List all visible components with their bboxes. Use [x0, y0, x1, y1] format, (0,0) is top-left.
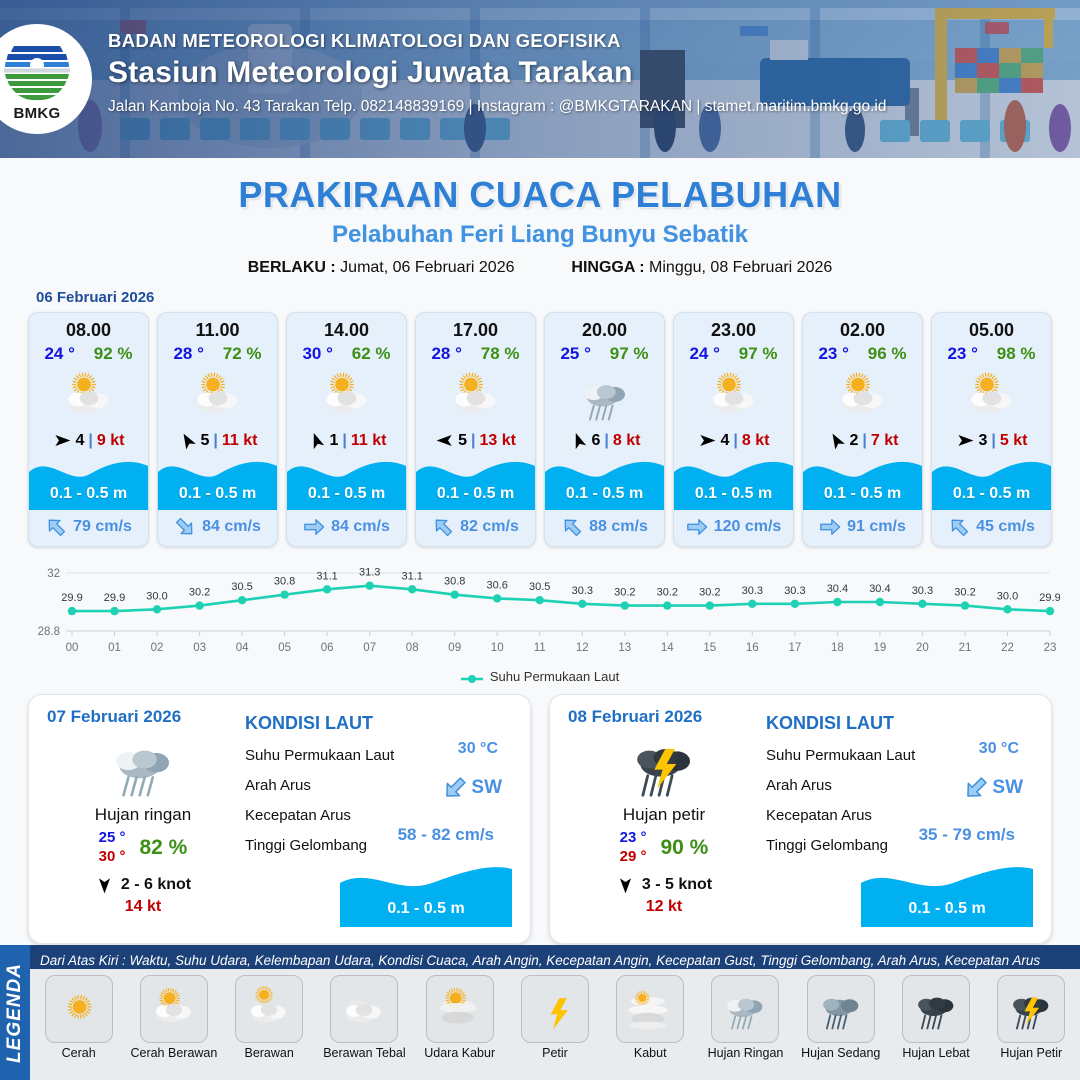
legend-item: Hujan Lebat: [891, 975, 980, 1060]
current-speed: 84 cm/s: [331, 518, 390, 536]
legend-icon-box: [426, 975, 494, 1043]
wave-height-block: 0.1 - 0.5 m: [158, 456, 277, 510]
wind-separator: |: [213, 432, 217, 450]
legend-item-label: Petir: [510, 1046, 599, 1060]
svg-text:22: 22: [1001, 642, 1014, 654]
air-temperature: 30 °: [302, 344, 332, 364]
wave-height-block: 0.1 - 0.5 m: [932, 456, 1051, 510]
valid-to-label: HINGGA :: [571, 259, 644, 276]
wave-height-value: 0.1 - 0.5 m: [803, 485, 922, 503]
forecast-temp-humidity: 23 ° 98 %: [932, 343, 1051, 366]
wave-height-block: 0.1 - 0.5 m: [545, 456, 664, 510]
summary-wind-range: 2 - 6 knot: [121, 876, 191, 894]
summary-temp-min: 23 °: [620, 829, 647, 846]
weather-icon-petir: [529, 983, 581, 1035]
wind-separator: |: [991, 432, 995, 450]
current-direction-arrow: [442, 775, 468, 801]
weather-icon-cerah-berawan: [59, 367, 119, 427]
valid-from-value: Jumat, 06 Februari 2026: [340, 259, 514, 276]
current-speed: 88 cm/s: [589, 518, 648, 536]
svg-text:01: 01: [108, 642, 121, 654]
svg-text:30.5: 30.5: [529, 581, 550, 593]
forecast-time: 05.00: [932, 313, 1051, 343]
weather-condition-icon: [803, 366, 922, 428]
wind-speed: 13 kt: [479, 432, 515, 450]
wind-direction-arrow: [569, 431, 588, 450]
air-temperature: 28 °: [431, 344, 461, 364]
svg-text:29.9: 29.9: [1039, 592, 1060, 604]
weather-icon-hujan-petir: [625, 727, 703, 805]
current-direction-arrow: [948, 516, 970, 538]
summary-temp-humidity: 25 ° 30 ° 82 %: [45, 829, 241, 867]
sst-chart: 3228.829.90029.90130.00230.20330.50430.8…: [20, 559, 1060, 667]
forecast-card: 23.00 24 ° 97 % 4 | 8 kt 0.1 - 0.5 m 120…: [673, 312, 794, 547]
legend-icon-box: [711, 975, 779, 1043]
air-temperature: 28 °: [173, 344, 203, 364]
humidity: 72 %: [223, 344, 262, 364]
wind-speed: 9 kt: [97, 432, 125, 450]
wind-direction-value: 5: [458, 432, 467, 450]
humidity: 97 %: [610, 344, 649, 364]
current-info: 88 cm/s: [545, 510, 664, 546]
wind-speed: 11 kt: [222, 432, 258, 450]
forecast-time: 02.00: [803, 313, 922, 343]
forecast-time: 23.00: [674, 313, 793, 343]
summary-humidity: 82 %: [139, 836, 187, 860]
sea-value-current-speed: 58 - 82 cm/s: [398, 825, 494, 845]
wave-height-value: 0.1 - 0.5 m: [287, 485, 406, 503]
svg-text:30.2: 30.2: [657, 587, 678, 599]
svg-text:30.2: 30.2: [614, 587, 635, 599]
wind-separator: |: [733, 432, 737, 450]
wind-direction-arrow: [956, 431, 975, 450]
wind-info: 5 | 13 kt: [416, 428, 535, 456]
weather-icon-cerah-berawan: [188, 367, 248, 427]
svg-text:16: 16: [746, 642, 759, 654]
svg-text:12: 12: [576, 642, 589, 654]
sea-value-wave: 0.1 - 0.5 m: [340, 900, 512, 918]
weather-icon-hujan-ringan: [104, 727, 182, 805]
current-speed: 82 cm/s: [460, 518, 519, 536]
svg-text:29.9: 29.9: [104, 592, 125, 604]
current-info: 84 cm/s: [158, 510, 277, 546]
contact-info: Jalan Kamboja No. 43 Tarakan Telp. 08214…: [108, 98, 887, 116]
weather-icon-udara-kabur: [434, 983, 486, 1035]
svg-text:20: 20: [916, 642, 929, 654]
forecast-card: 14.00 30 ° 62 % 1 | 11 kt 0.1 - 0.5 m 84…: [286, 312, 407, 547]
svg-text:31.1: 31.1: [316, 570, 337, 582]
weather-icon-hujan-lebat: [910, 983, 962, 1035]
day-summaries-row: 07 Februari 2026 Hujan ringan 25 ° 30 ° …: [0, 684, 1080, 944]
svg-text:14: 14: [661, 642, 674, 654]
air-temperature: 23 °: [947, 344, 977, 364]
humidity: 96 %: [868, 344, 907, 364]
summary-left: 08 Februari 2026 Hujan petir 23 ° 29 ° 9…: [566, 707, 762, 929]
forecast-time: 14.00: [287, 313, 406, 343]
wave-height-block: 0.1 - 0.5 m: [674, 456, 793, 510]
legend-item-label: Cerah Berawan: [129, 1046, 218, 1060]
wave-height-block: 0.1 - 0.5 m: [803, 456, 922, 510]
legend-icon-box: [616, 975, 684, 1043]
summary-temp-range: 25 ° 30 °: [99, 829, 126, 867]
wind-info: 3 | 5 kt: [932, 428, 1051, 456]
current-direction-arrow: [174, 516, 196, 538]
summary-gust: 14 kt: [45, 898, 241, 916]
weather-condition-icon: [158, 366, 277, 428]
humidity: 62 %: [352, 344, 391, 364]
summary-temp-min: 25 °: [99, 829, 126, 846]
current-speed: 91 cm/s: [847, 518, 906, 536]
wind-direction-value: 3: [979, 432, 988, 450]
humidity: 97 %: [739, 344, 778, 364]
legend-item-label: Hujan Ringan: [701, 1046, 790, 1060]
wind-separator: |: [88, 432, 92, 450]
sea-value-sst: 30 °C: [458, 740, 498, 758]
svg-text:13: 13: [618, 642, 631, 654]
current-speed: 120 cm/s: [714, 518, 782, 536]
air-temperature: 23 °: [818, 344, 848, 364]
weather-icon-cerah: [53, 983, 105, 1035]
wind-info: 1 | 11 kt: [287, 428, 406, 456]
wind-speed: 8 kt: [613, 432, 641, 450]
wind-direction-arrow: [53, 431, 72, 450]
svg-text:08: 08: [406, 642, 419, 654]
wind-info: 4 | 9 kt: [29, 428, 148, 456]
svg-text:18: 18: [831, 642, 844, 654]
current-info: 120 cm/s: [674, 510, 793, 546]
legend-icon-box: [140, 975, 208, 1043]
current-direction-arrow: [963, 775, 989, 801]
svg-text:30.2: 30.2: [189, 587, 210, 599]
weather-icon-hujan-petir: [1005, 983, 1057, 1035]
legend-item: Berawan: [225, 975, 314, 1060]
day-summary-card: 07 Februari 2026 Hujan ringan 25 ° 30 ° …: [28, 694, 531, 944]
weather-condition-icon: [674, 366, 793, 428]
forecast-card: 11.00 28 ° 72 % 5 | 11 kt 0.1 - 0.5 m 84…: [157, 312, 278, 547]
air-temperature: 25 °: [560, 344, 590, 364]
forecast-temp-humidity: 24 ° 92 %: [29, 343, 148, 366]
weather-icon-cerah-berawan: [446, 367, 506, 427]
sea-wave-block: 0.1 - 0.5 m: [340, 861, 512, 927]
wave-height-value: 0.1 - 0.5 m: [29, 485, 148, 503]
summary-temp-humidity: 23 ° 29 ° 90 %: [566, 829, 762, 867]
weather-icon-kabut: [624, 983, 676, 1035]
legend-side-title-text: LEGENDA: [4, 963, 26, 1063]
wind-direction-arrow: [178, 431, 197, 450]
validity-period: BERLAKU : Jumat, 06 Februari 2026 HINGGA…: [0, 259, 1080, 277]
wind-direction-arrow: [95, 876, 114, 895]
summary-wind: 2 - 6 knot: [45, 876, 241, 895]
legend-icon-box: [235, 975, 303, 1043]
legend-icon-box: [521, 975, 589, 1043]
wind-info: 2 | 7 kt: [803, 428, 922, 456]
svg-text:28.8: 28.8: [38, 626, 60, 638]
svg-text:23: 23: [1044, 642, 1057, 654]
page-subtitle: Pelabuhan Feri Liang Bunyu Sebatik: [0, 221, 1080, 249]
sea-item-current-speed: Kecepatan Arus: [766, 807, 1035, 824]
svg-text:11: 11: [534, 642, 546, 654]
legend-item: Hujan Petir: [987, 975, 1076, 1060]
humidity: 78 %: [481, 344, 520, 364]
valid-to-value: Minggu, 08 Februari 2026: [649, 259, 832, 276]
forecast-time: 08.00: [29, 313, 148, 343]
svg-text:05: 05: [278, 642, 291, 654]
wind-direction-arrow: [435, 431, 454, 450]
forecast-time: 11.00: [158, 313, 277, 343]
wind-separator: |: [471, 432, 475, 450]
wind-direction-value: 5: [201, 432, 210, 450]
weather-condition-icon: [416, 366, 535, 428]
svg-text:32: 32: [47, 568, 60, 580]
weather-condition-icon: [545, 366, 664, 428]
wind-speed: 5 kt: [1000, 432, 1028, 450]
forecast-card: 08.00 24 ° 92 % 4 | 9 kt 0.1 - 0.5 m 79 …: [28, 312, 149, 547]
legend-icon-box: [997, 975, 1065, 1043]
legend-item: Berawan Tebal: [320, 975, 409, 1060]
humidity: 92 %: [94, 344, 133, 364]
forecast-time: 17.00: [416, 313, 535, 343]
current-direction-label: SW: [992, 777, 1023, 799]
agency-name: BADAN METEOROLOGI KLIMATOLOGI DAN GEOFIS…: [108, 30, 887, 52]
wind-direction-value: 4: [76, 432, 85, 450]
legend-item-label: Cerah: [34, 1046, 123, 1060]
summary-date: 08 Februari 2026: [568, 707, 762, 727]
title-section: PRAKIRAAN CUACA PELABUHAN Pelabuhan Feri…: [0, 158, 1080, 277]
legend-icon-box: [45, 975, 113, 1043]
legend-icon-box: [330, 975, 398, 1043]
wind-separator: |: [342, 432, 346, 450]
current-direction-arrow: [561, 516, 583, 538]
svg-text:30.0: 30.0: [997, 590, 1018, 602]
forecast-temp-humidity: 24 ° 97 %: [674, 343, 793, 366]
legend-item: Hujan Ringan: [701, 975, 790, 1060]
svg-text:06: 06: [321, 642, 334, 654]
sea-conditions-header: KONDISI LAUT: [766, 713, 1035, 734]
current-direction-label: SW: [471, 777, 502, 799]
page-title: PRAKIRAAN CUACA PELABUHAN: [0, 174, 1080, 216]
current-info: 91 cm/s: [803, 510, 922, 546]
chart-legend-marker: [461, 672, 483, 682]
svg-text:31.1: 31.1: [401, 570, 422, 582]
summary-temp-max: 29 °: [620, 848, 647, 865]
current-info: 84 cm/s: [287, 510, 406, 546]
current-direction-arrow: [819, 516, 841, 538]
svg-text:02: 02: [151, 642, 164, 654]
current-direction-arrow: [45, 516, 67, 538]
legend-item: Hujan Sedang: [796, 975, 885, 1060]
bmkg-logo-text: BMKG: [0, 105, 74, 122]
svg-text:30.6: 30.6: [486, 579, 507, 591]
summary-wind-range: 3 - 5 knot: [642, 876, 712, 894]
weather-condition-icon: [287, 366, 406, 428]
sea-value-current-speed: 35 - 79 cm/s: [919, 825, 1015, 845]
svg-text:17: 17: [789, 642, 802, 654]
weather-icon-cerah-berawan: [833, 367, 893, 427]
wind-info: 5 | 11 kt: [158, 428, 277, 456]
svg-text:21: 21: [959, 642, 972, 654]
sea-item-current-speed: Kecepatan Arus: [245, 807, 514, 824]
forecast-card: 02.00 23 ° 96 % 2 | 7 kt 0.1 - 0.5 m 91 …: [802, 312, 923, 547]
wind-info: 4 | 8 kt: [674, 428, 793, 456]
svg-text:30.2: 30.2: [954, 587, 975, 599]
wind-direction-value: 6: [592, 432, 601, 450]
weather-condition-icon: [932, 366, 1051, 428]
summary-humidity: 90 %: [660, 836, 708, 860]
bmkg-logo-icon: [0, 38, 74, 104]
sea-value-sst: 30 °C: [979, 740, 1019, 758]
air-temperature: 24 °: [44, 344, 74, 364]
wind-separator: |: [604, 432, 608, 450]
wave-height-value: 0.1 - 0.5 m: [545, 485, 664, 503]
svg-text:30.3: 30.3: [572, 585, 593, 597]
weather-icon-cerah-berawan: [962, 367, 1022, 427]
weather-icon-cerah-berawan: [704, 367, 764, 427]
forecast-temp-humidity: 23 ° 96 %: [803, 343, 922, 366]
current-direction-arrow: [432, 516, 454, 538]
wind-info: 6 | 8 kt: [545, 428, 664, 456]
legend-item-label: Berawan Tebal: [320, 1046, 409, 1060]
summary-sea-conditions: KONDISI LAUT Suhu Permukaan Laut Arah Ar…: [762, 707, 1035, 929]
legend-item-label: Hujan Petir: [987, 1046, 1076, 1060]
svg-text:30.2: 30.2: [699, 587, 720, 599]
wind-direction-arrow: [698, 431, 717, 450]
summary-gust: 12 kt: [566, 898, 762, 916]
current-info: 45 cm/s: [932, 510, 1051, 546]
svg-text:15: 15: [703, 642, 716, 654]
legend-item: Petir: [510, 975, 599, 1060]
current-info: 82 cm/s: [416, 510, 535, 546]
legend-item-label: Udara Kabur: [415, 1046, 504, 1060]
station-name: Stasiun Meteorologi Juwata Tarakan: [108, 56, 887, 90]
legend-item-label: Hujan Lebat: [891, 1046, 980, 1060]
legend-item: Cerah Berawan: [129, 975, 218, 1060]
current-speed: 79 cm/s: [73, 518, 132, 536]
weather-icon-hujan-sedang: [815, 983, 867, 1035]
summary-weather-icon: [566, 729, 762, 803]
svg-text:19: 19: [874, 642, 887, 654]
summary-date: 07 Februari 2026: [47, 707, 241, 727]
wind-direction-arrow: [307, 431, 326, 450]
svg-text:30.8: 30.8: [444, 576, 465, 588]
sst-chart-svg: 3228.829.90029.90130.00230.20330.50430.8…: [20, 559, 1060, 667]
weather-condition-icon: [29, 366, 148, 428]
wave-height-block: 0.1 - 0.5 m: [287, 456, 406, 510]
svg-text:10: 10: [491, 642, 504, 654]
wave-height-value: 0.1 - 0.5 m: [932, 485, 1051, 503]
forecast-temp-humidity: 28 ° 78 %: [416, 343, 535, 366]
svg-text:30.0: 30.0: [146, 590, 167, 602]
wind-direction-value: 1: [330, 432, 339, 450]
legend-item: Udara Kabur: [415, 975, 504, 1060]
wind-speed: 8 kt: [742, 432, 770, 450]
air-temperature: 24 °: [689, 344, 719, 364]
wind-speed: 7 kt: [871, 432, 899, 450]
svg-text:30.3: 30.3: [742, 585, 763, 597]
summary-temp-max: 30 °: [99, 848, 126, 865]
weather-icon-berawan-tebal: [338, 983, 390, 1035]
svg-text:29.9: 29.9: [61, 592, 82, 604]
forecast-card: 20.00 25 ° 97 % 6 | 8 kt 0.1 - 0.5 m 88 …: [544, 312, 665, 547]
sea-wave-block: 0.1 - 0.5 m: [861, 861, 1033, 927]
current-speed: 84 cm/s: [202, 518, 261, 536]
forecast-temp-humidity: 25 ° 97 %: [545, 343, 664, 366]
svg-text:30.3: 30.3: [912, 585, 933, 597]
forecast-card: 17.00 28 ° 78 % 5 | 13 kt 0.1 - 0.5 m 82…: [415, 312, 536, 547]
wind-direction-arrow: [616, 876, 635, 895]
legend-item-label: Kabut: [606, 1046, 695, 1060]
humidity: 98 %: [997, 344, 1036, 364]
chart-legend: Suhu Permukaan Laut: [0, 669, 1080, 684]
forecast-card: 05.00 23 ° 98 % 3 | 5 kt 0.1 - 0.5 m 45 …: [931, 312, 1052, 547]
summary-condition: Hujan ringan: [45, 805, 241, 825]
summary-left: 07 Februari 2026 Hujan ringan 25 ° 30 ° …: [45, 707, 241, 929]
wave-height-value: 0.1 - 0.5 m: [674, 485, 793, 503]
current-info: 79 cm/s: [29, 510, 148, 546]
svg-text:30.4: 30.4: [827, 583, 848, 595]
legend-bar: LEGENDA Dari Atas Kiri : Waktu, Suhu Uda…: [0, 945, 1080, 1080]
wind-direction-value: 2: [850, 432, 859, 450]
summary-wind: 3 - 5 knot: [566, 876, 762, 895]
wave-height-block: 0.1 - 0.5 m: [416, 456, 535, 510]
svg-text:30.8: 30.8: [274, 576, 295, 588]
weather-icon-cerah-berawan: [317, 367, 377, 427]
wave-height-value: 0.1 - 0.5 m: [416, 485, 535, 503]
legend-item-label: Berawan: [225, 1046, 314, 1060]
forecast-time: 20.00: [545, 313, 664, 343]
summary-weather-icon: [45, 729, 241, 803]
weather-icon-berawan: [243, 983, 295, 1035]
svg-text:04: 04: [236, 642, 249, 654]
svg-text:07: 07: [363, 642, 376, 654]
page-header: BMKG BADAN METEOROLOGI KLIMATOLOGI DAN G…: [0, 0, 1080, 158]
svg-text:00: 00: [66, 642, 79, 654]
current-direction-arrow: [303, 516, 325, 538]
forecast-day-label: 06 Februari 2026: [36, 289, 1080, 306]
current-direction-arrow: [686, 516, 708, 538]
sea-conditions-header: KONDISI LAUT: [245, 713, 514, 734]
summary-condition: Hujan petir: [566, 805, 762, 825]
wave-height-value: 0.1 - 0.5 m: [158, 485, 277, 503]
wave-height-block: 0.1 - 0.5 m: [29, 456, 148, 510]
summary-sea-conditions: KONDISI LAUT Suhu Permukaan Laut Arah Ar…: [241, 707, 514, 929]
legend-item: Cerah: [34, 975, 123, 1060]
svg-text:31.3: 31.3: [359, 567, 380, 579]
svg-text:30.4: 30.4: [869, 583, 890, 595]
forecast-temp-humidity: 30 ° 62 %: [287, 343, 406, 366]
legend-icon-box: [807, 975, 875, 1043]
day-summary-card: 08 Februari 2026 Hujan petir 23 ° 29 ° 9…: [549, 694, 1052, 944]
svg-text:30.5: 30.5: [231, 581, 252, 593]
legend-item-label: Hujan Sedang: [796, 1046, 885, 1060]
legend-item: Kabut: [606, 975, 695, 1060]
wind-speed: 11 kt: [351, 432, 387, 450]
sea-value-wave: 0.1 - 0.5 m: [861, 900, 1033, 918]
valid-from-label: BERLAKU :: [248, 259, 336, 276]
wind-direction-arrow: [827, 431, 846, 450]
weather-icon-cerah-berawan: [148, 983, 200, 1035]
legend-note: Dari Atas Kiri : Waktu, Suhu Udara, Kele…: [40, 953, 1040, 968]
legend-side-title: LEGENDA: [0, 945, 30, 1080]
sea-value-current-direction: SW: [963, 775, 1023, 801]
svg-text:03: 03: [193, 642, 206, 654]
wind-separator: |: [862, 432, 866, 450]
weather-icon-hujan-ringan: [719, 983, 771, 1035]
forecast-temp-humidity: 28 ° 72 %: [158, 343, 277, 366]
sea-value-current-direction: SW: [442, 775, 502, 801]
weather-icon-hujan-ringan: [575, 367, 635, 427]
legend-icon-box: [902, 975, 970, 1043]
wind-direction-value: 4: [721, 432, 730, 450]
